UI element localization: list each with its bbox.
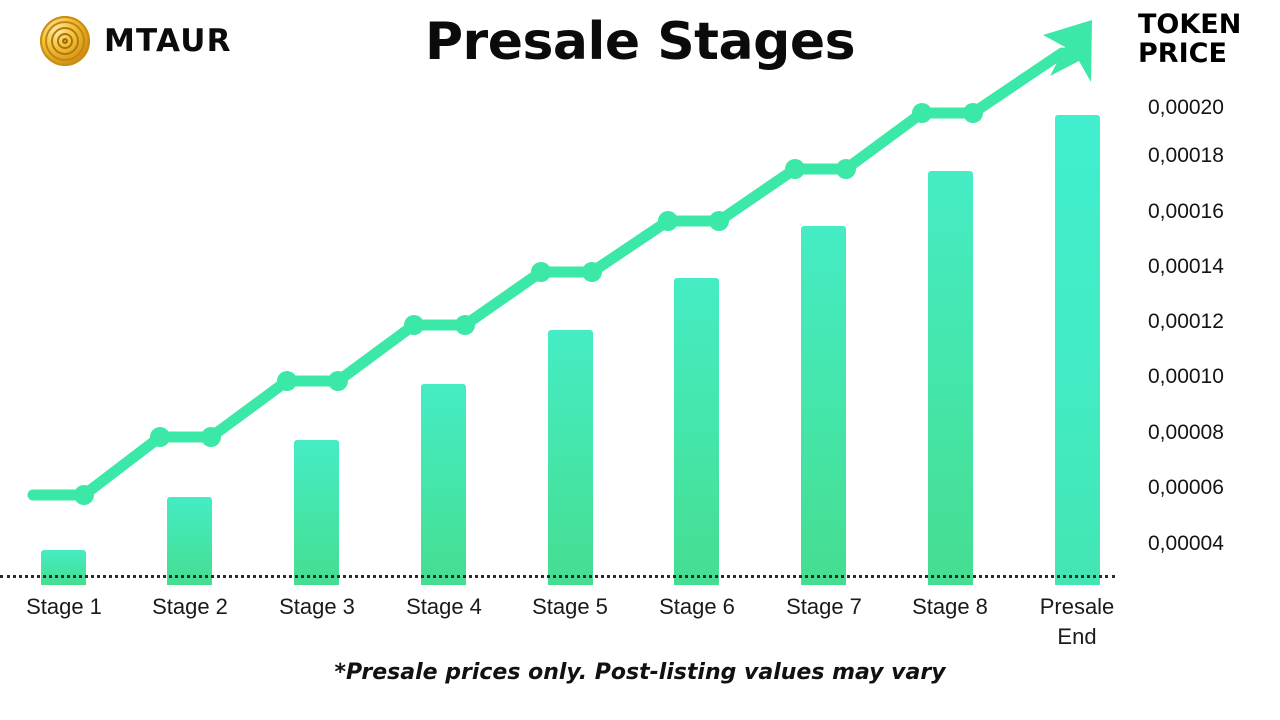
x-axis-baseline <box>0 575 1115 578</box>
trend-arrow-head <box>1043 20 1092 82</box>
trend-step-line <box>0 0 1130 585</box>
marker-stage-7-end <box>836 159 856 179</box>
x-label-stage-6: Stage 6 <box>637 592 757 622</box>
y-tick-0: 0,00020 <box>1148 96 1264 120</box>
marker-stage-3-end <box>328 371 348 391</box>
x-label-stage-5: Stage 5 <box>510 592 630 622</box>
step-line-markers <box>74 103 983 505</box>
marker-stage-2-start <box>150 427 170 447</box>
marker-stage-3-start <box>277 371 297 391</box>
marker-stage-7-start <box>785 159 805 179</box>
chart-plot-area <box>0 0 1130 585</box>
x-label-stage-3: Stage 3 <box>257 592 377 622</box>
x-label-stage-2: Stage 2 <box>130 592 250 622</box>
y-tick-2: 0,00016 <box>1148 200 1264 224</box>
marker-stage-6-start <box>658 211 678 231</box>
x-label-stage-8: Stage 8 <box>890 592 1010 622</box>
marker-stage-2-end <box>201 427 221 447</box>
marker-stage-1 <box>74 485 94 505</box>
marker-stage-8-end <box>963 103 983 123</box>
presale-stages-infographic: MTAUR Presale Stages TOKEN PRICE <box>0 0 1280 720</box>
y-axis-ticks: 0,00020 0,00018 0,00016 0,00014 0,00012 … <box>1148 0 1268 585</box>
x-label-stage-7: Stage 7 <box>764 592 884 622</box>
x-label-presale-end: Presale End <box>1017 592 1137 652</box>
x-axis-labels: Stage 1 Stage 2 Stage 3 Stage 4 Stage 5 … <box>0 592 1130 662</box>
marker-stage-4-start <box>404 315 424 335</box>
y-tick-7: 0,00006 <box>1148 476 1264 500</box>
y-tick-8: 0,00004 <box>1148 532 1264 556</box>
x-label-presale-end-line1: Presale <box>1017 592 1137 622</box>
marker-stage-5-end <box>582 262 602 282</box>
marker-stage-8-start <box>912 103 932 123</box>
marker-stage-4-end <box>455 315 475 335</box>
x-label-presale-end-line2: End <box>1017 622 1137 652</box>
y-tick-3: 0,00014 <box>1148 255 1264 279</box>
y-tick-6: 0,00008 <box>1148 421 1264 445</box>
x-label-stage-4: Stage 4 <box>384 592 504 622</box>
y-tick-4: 0,00012 <box>1148 310 1264 334</box>
marker-stage-6-end <box>709 211 729 231</box>
footnote: *Presale prices only. Post-listing value… <box>0 660 1280 685</box>
x-label-stage-1: Stage 1 <box>4 592 124 622</box>
y-tick-5: 0,00010 <box>1148 365 1264 389</box>
y-tick-1: 0,00018 <box>1148 144 1264 168</box>
marker-stage-5-start <box>531 262 551 282</box>
